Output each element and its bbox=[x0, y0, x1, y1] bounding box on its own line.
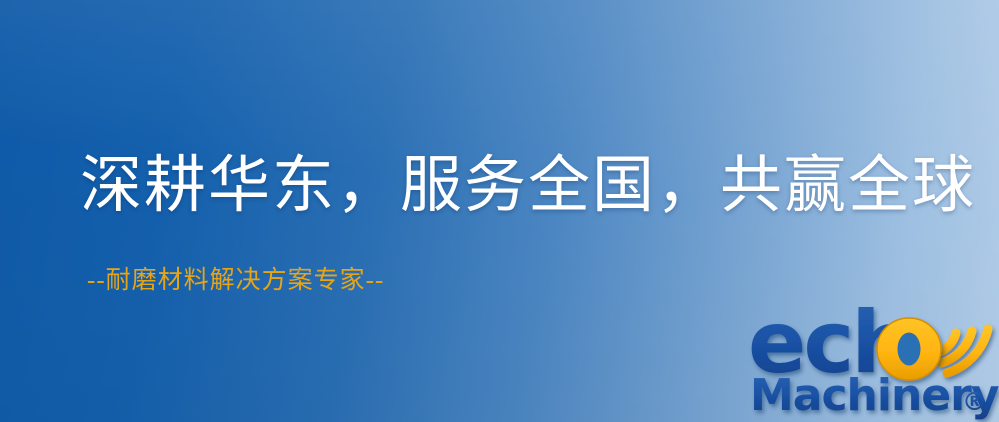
svg-text:®: ® bbox=[962, 387, 987, 416]
signal-waves-icon bbox=[935, 329, 988, 373]
banner-headline: 深耕华东，服务全国，共赢全球 bbox=[80, 155, 976, 217]
banner-subtitle: --耐磨材料解决方案专家-- bbox=[87, 268, 384, 293]
logo-machinery-text: Machinery ® bbox=[750, 370, 999, 421]
promo-banner: 深耕华东，服务全国，共赢全球 --耐磨材料解决方案专家-- bbox=[0, 0, 999, 422]
echo-machinery-logo[interactable]: ech Machinery ® bbox=[748, 296, 999, 422]
